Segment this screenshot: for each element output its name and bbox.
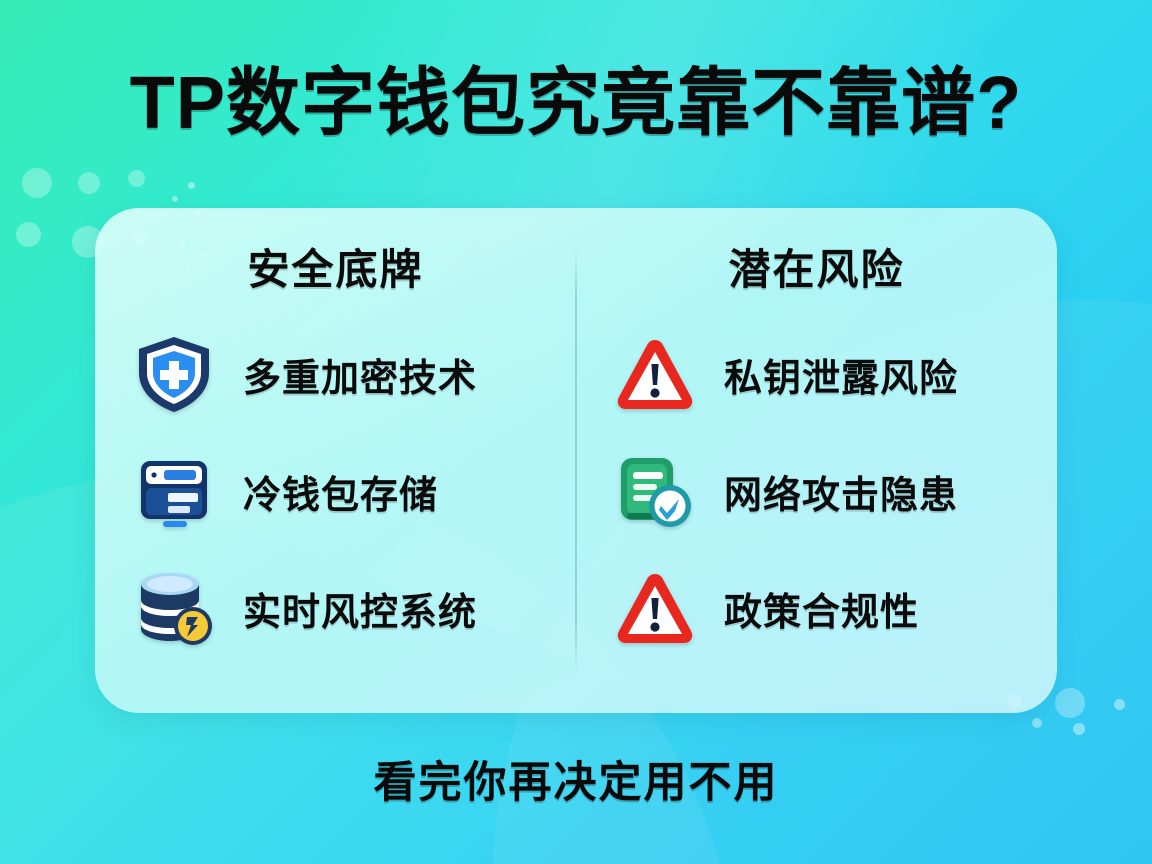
list-item: 政策合规性: [612, 565, 1057, 651]
column-heading-risk: 潜在风险: [728, 236, 904, 297]
decorative-dot: [1032, 718, 1042, 728]
list-item: 网络攻击隐患: [612, 448, 1057, 534]
column-risk: 潜在风险 私钥泄露风险: [576, 208, 1057, 713]
decorative-dot: [188, 182, 195, 189]
decorative-dot: [16, 222, 41, 247]
decorative-dot: [1055, 688, 1085, 718]
content-card: 安全底牌 多重加密技术: [95, 208, 1057, 713]
list-item-label: 网络攻击隐患: [724, 464, 958, 519]
document-check-icon: [612, 448, 698, 534]
database-coin-icon: [131, 565, 217, 651]
list-item-label: 冷钱包存储: [243, 464, 438, 519]
column-security: 安全底牌 多重加密技术: [95, 208, 576, 713]
list-item-label: 私钥泄露风险: [724, 347, 958, 402]
security-item-list: 多重加密技术: [95, 331, 576, 651]
column-heading-security: 安全底牌: [247, 236, 423, 297]
decorative-dot: [172, 196, 178, 202]
list-item-label: 多重加密技术: [243, 347, 477, 402]
decorative-dot: [128, 170, 145, 187]
list-item-label: 实时风控系统: [243, 581, 477, 636]
infographic-poster: TP数字钱包究竟靠不靠谱? 安全底牌: [0, 0, 1152, 864]
decorative-dot: [1114, 699, 1125, 710]
poster-title: TP数字钱包究竟靠不靠谱?: [0, 66, 1152, 140]
decorative-dot: [1073, 723, 1085, 735]
list-item: 实时风控系统: [131, 565, 576, 651]
list-item: 多重加密技术: [131, 331, 576, 417]
list-item: 冷钱包存储: [131, 448, 576, 534]
decorative-dot: [22, 168, 52, 198]
list-item-label: 政策合规性: [724, 581, 919, 636]
decorative-dot: [78, 172, 100, 194]
warning-triangle-icon: [612, 331, 698, 417]
shield-check-icon: [131, 331, 217, 417]
risk-item-list: 私钥泄露风险: [576, 331, 1057, 651]
list-item: 私钥泄露风险: [612, 331, 1057, 417]
cold-wallet-icon: [131, 448, 217, 534]
warning-triangle-icon: [612, 565, 698, 651]
poster-footer: 看完你再决定用不用: [0, 748, 1152, 810]
